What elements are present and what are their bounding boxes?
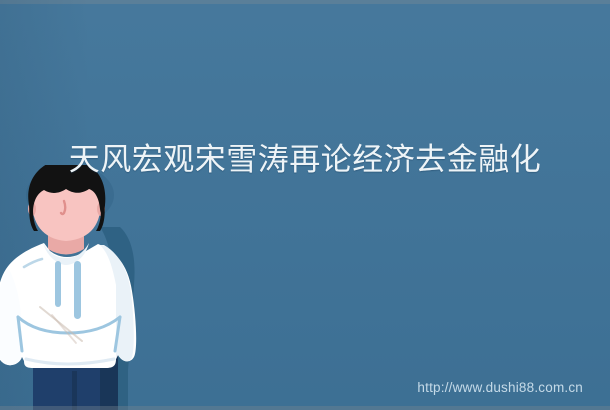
figure-drop-shadow (26, 165, 135, 410)
hair-strand-right (96, 197, 105, 231)
neck (48, 221, 84, 255)
shoulder-seam (24, 259, 42, 267)
nose-mark (61, 201, 65, 214)
pocket-top-line (18, 317, 120, 333)
fold-line-1 (40, 307, 82, 341)
background-vignette (0, 0, 610, 410)
site-watermark: http://www.dushi88.com.cn (417, 380, 583, 396)
top-edge-band (0, 0, 610, 4)
hair-strand-left (29, 197, 38, 231)
ear-right (97, 202, 105, 216)
hoodie-shade-right (100, 245, 134, 361)
hoodie-hem (26, 359, 114, 364)
pants-center-seam (72, 371, 77, 410)
person-illustration (0, 165, 160, 410)
pocket-edge-left (18, 317, 22, 351)
hoodie-shade-left (0, 269, 21, 365)
drawstring-right (74, 261, 81, 319)
person-illustration-svg (0, 165, 160, 410)
page-title: 天风宏观宋雪涛再论经济去金融化 (0, 140, 610, 180)
hoodie-body (0, 243, 136, 368)
hoodie (0, 243, 136, 368)
pocket-edge-right (115, 317, 120, 351)
bottom-edge-band (0, 406, 610, 410)
ear-left (28, 202, 36, 216)
hood-collar (43, 243, 89, 265)
fold-line-2 (52, 315, 76, 343)
drawstring-left (55, 261, 61, 307)
pants (33, 343, 118, 410)
article-cover-image: 天风宏观宋雪涛再论经济去金融化 http://www.dushi88.com.c… (0, 0, 610, 410)
